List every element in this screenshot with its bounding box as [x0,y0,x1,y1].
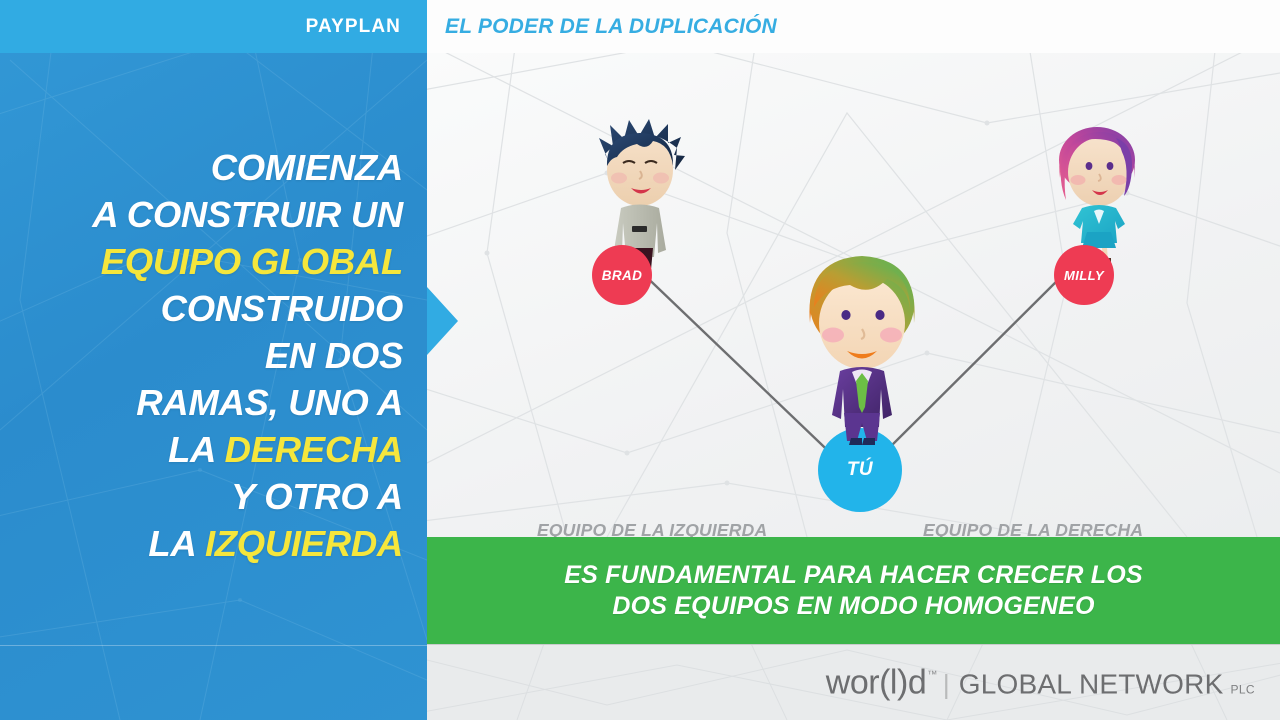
headline-line-2: A CONSTRUIR UN [23,191,403,238]
logo-paren-open: ( [879,663,890,701]
brad-cheek-right [653,173,669,184]
badge-you-label: TÚ [847,459,873,481]
brad-belt [632,226,647,232]
header-bar: EL PODER DE LA DUPLICACIÓN [427,0,1280,53]
green-callout-banner: ES FUNDAMENTAL PARA HACER CRECER LOS DOS… [427,537,1280,644]
logo-wordmark: wor(l)d™ [826,663,936,702]
sidebar-panel: COMIENZA A CONSTRUIR UN EQUIPO GLOBAL CO… [0,0,427,720]
you-cheek-right [880,328,902,343]
headline-line-9-plain: LA [148,523,205,564]
you-eye-right [875,310,884,320]
brand-bar: PAYPLAN [0,0,427,53]
badge-milly-label: MILLY [1064,268,1104,283]
logo-trademark-icon: ™ [927,669,937,680]
avatar-you [792,243,932,458]
brad-cheek-left [611,173,627,184]
headline-line-3: EQUIPO GLOBAL [23,238,403,285]
sidebar-headline: COMIENZA A CONSTRUIR UN EQUIPO GLOBAL CO… [23,144,403,567]
logo-paren-close: ) [897,663,908,701]
headline-line-9-highlight: IZQUIERDA [205,523,403,564]
milly-cheek-left [1071,175,1086,185]
avatar-brad [575,108,705,268]
headline-line-7-plain: LA [168,429,225,470]
you-cheek-left [822,328,844,343]
headline-line-5: EN DOS [23,332,403,379]
logo-d: d [908,663,926,701]
sidebar-divider [0,645,427,646]
node-brad[interactable]: BRAD [575,108,705,298]
headline-line-6: RAMAS, UNO A [23,379,403,426]
headline-line-1: COMIENZA [23,144,403,191]
milly-cheek-right [1112,175,1127,185]
page-title: EL PODER DE LA DUPLICACIÓN [445,15,777,39]
headline-line-4: CONSTRUIDO [23,285,403,332]
avatar-milly [1032,108,1162,268]
left-team-label: EQUIPO DE LA IZQUIERDA [537,520,767,537]
you-shoes [849,438,875,445]
right-team-label: EQUIPO DE LA DERECHA [923,520,1143,537]
banner-line-2: DOS EQUIPOS EN MODO HOMOGENEO [612,591,1094,622]
node-you[interactable]: TÚ [792,243,932,503]
badge-brad-label: BRAD [602,268,643,283]
diagram-canvas: EQUIPO DE LA IZQUIERDA EQUIPO DE LA DERE… [427,53,1280,537]
badge-milly[interactable]: MILLY [1054,245,1114,305]
milly-eye-right [1107,162,1114,170]
logo-wor: wor [826,663,879,701]
milly-head [1068,138,1130,206]
headline-line-7: LA DERECHA [23,426,403,473]
milly-eye-left [1086,162,1093,170]
headline-line-7-highlight: DERECHA [225,429,403,470]
footer-logo: wor(l)d™ | GLOBAL NETWORK PLC [826,663,1255,702]
sidebar-arrow-icon [427,287,458,355]
slide: COMIENZA A CONSTRUIR UN EQUIPO GLOBAL CO… [0,0,1280,720]
brand-label: PAYPLAN [306,16,401,38]
logo-plc: PLC [1230,682,1255,696]
footer-bar: wor(l)d™ | GLOBAL NETWORK PLC [427,645,1280,720]
logo-global-network: GLOBAL NETWORK [959,668,1224,700]
headline-line-9: LA IZQUIERDA [23,520,403,567]
node-milly[interactable]: MILLY [1032,108,1162,298]
you-eye-left [841,310,850,320]
logo-separator: | [943,669,950,700]
banner-line-1: ES FUNDAMENTAL PARA HACER CRECER LOS [564,560,1143,591]
badge-brad[interactable]: BRAD [592,245,652,305]
headline-line-8: Y OTRO A [23,473,403,520]
footer-divider [427,644,1280,645]
